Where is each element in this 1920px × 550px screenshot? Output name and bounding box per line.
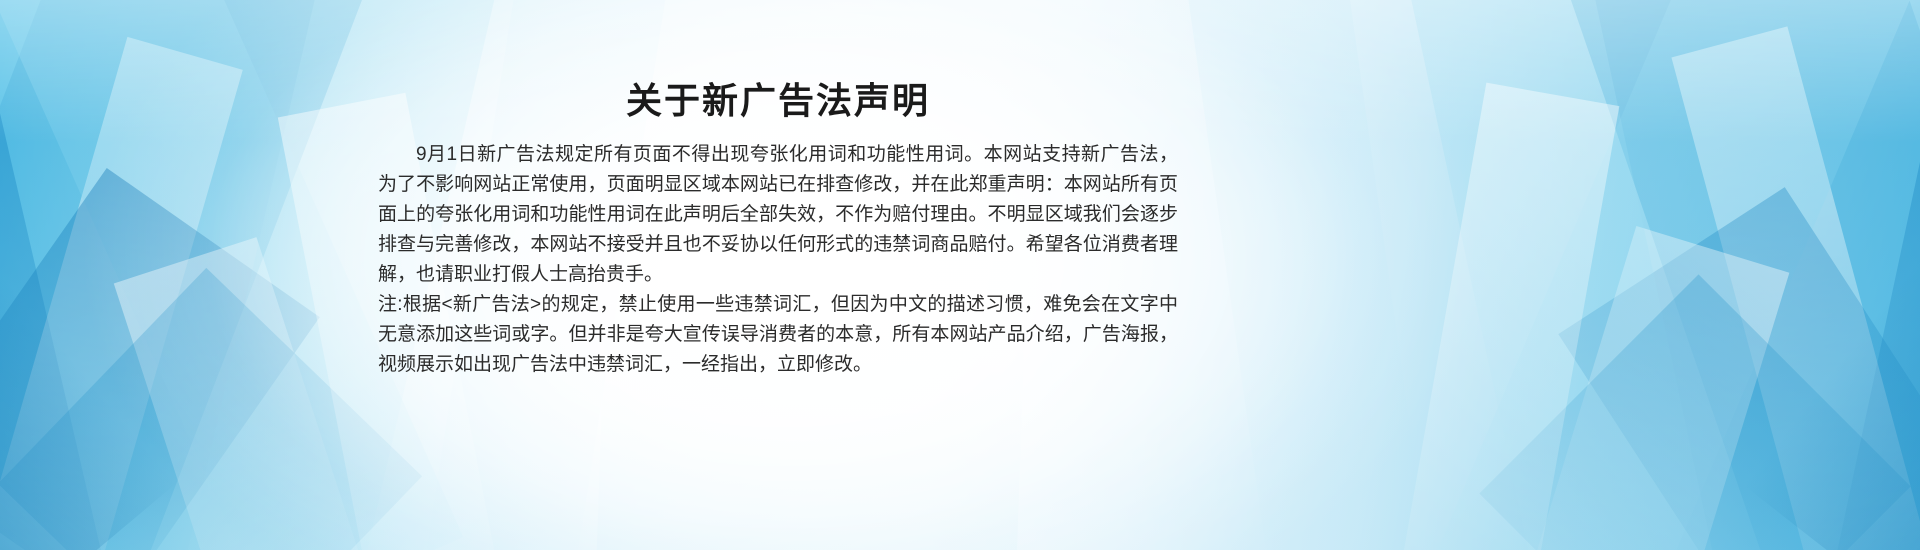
shard-right-2 bbox=[1801, 0, 1920, 550]
shard-left-2 bbox=[0, 0, 133, 550]
shard-right-9 bbox=[1386, 83, 1620, 550]
shard-right-5 bbox=[1558, 187, 1920, 550]
shard-left-8 bbox=[0, 268, 422, 550]
shard-right-3 bbox=[1671, 26, 1920, 550]
shard-right-6 bbox=[1511, 226, 1790, 550]
shard-right-4 bbox=[1438, 0, 1920, 550]
shard-right-7 bbox=[1402, 0, 1728, 550]
shard-left-10 bbox=[0, 268, 177, 550]
shard-right-1 bbox=[1549, 0, 1920, 550]
shard-left-5 bbox=[0, 168, 320, 550]
advertising-law-notice-banner: 关于新广告法声明 9月1日新广告法规定所有页面不得出现夸张化用词和功能性用词。本… bbox=[0, 0, 1920, 550]
shard-left-1 bbox=[0, 0, 377, 550]
notice-paragraph-2: 注:根据<新广告法>的规定，禁止使用一些违禁词汇，但因为中文的描述习惯，难免会在… bbox=[378, 290, 1178, 380]
shard-left-6 bbox=[114, 237, 386, 550]
shard-right-8 bbox=[1479, 274, 1910, 550]
notice-body: 9月1日新广告法规定所有页面不得出现夸张化用词和功能性用词。本网站支持新广告法，… bbox=[378, 140, 1178, 380]
shard-left-3 bbox=[0, 37, 243, 550]
shard-middle-2 bbox=[1185, 0, 1435, 550]
notice-paragraph-1: 9月1日新广告法规定所有页面不得出现夸张化用词和功能性用词。本网站支持新广告法，… bbox=[378, 140, 1178, 290]
notice-title: 关于新广告法声明 bbox=[378, 78, 1178, 124]
shard-right-10 bbox=[1743, 256, 1920, 550]
notice-content: 关于新广告法声明 9月1日新广告法规定所有页面不得出现夸张化用词和功能性用词。本… bbox=[378, 78, 1178, 380]
